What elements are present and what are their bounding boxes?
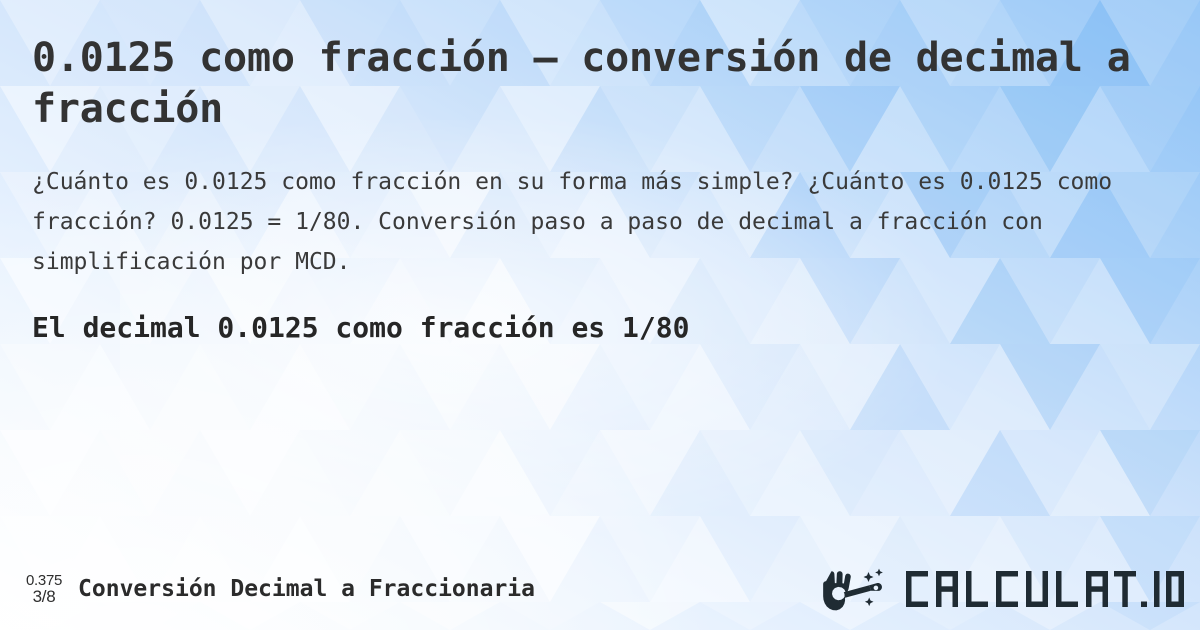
share-card: 0.0125 como fracción – conversión de dec… [0, 0, 1200, 630]
description-text: ¿Cuánto es 0.0125 como fracción en su fo… [32, 162, 1144, 282]
page-title: 0.0125 como fracción – conversión de dec… [32, 33, 1152, 135]
footer-title: Conversión Decimal a Fraccionaria [78, 576, 535, 602]
decimal-fraction-icon: 0.375 3/8 [26, 572, 62, 607]
calculatio-wordmark [904, 569, 1186, 609]
hand-magic-wand-icon [821, 567, 895, 611]
decimal-fraction-icon-fraction: 3/8 [33, 588, 56, 606]
decimal-fraction-icon-decimal: 0.375 [26, 573, 62, 589]
answer-statement: El decimal 0.0125 como fracción es 1/80 [32, 310, 1168, 346]
brand-logo[interactable] [821, 567, 1186, 611]
footer: 0.375 3/8 Conversión Decimal a Fracciona… [0, 560, 1200, 618]
footer-left-group: 0.375 3/8 Conversión Decimal a Fracciona… [26, 572, 535, 607]
card-content: 0.0125 como fracción – conversión de dec… [0, 0, 1200, 630]
